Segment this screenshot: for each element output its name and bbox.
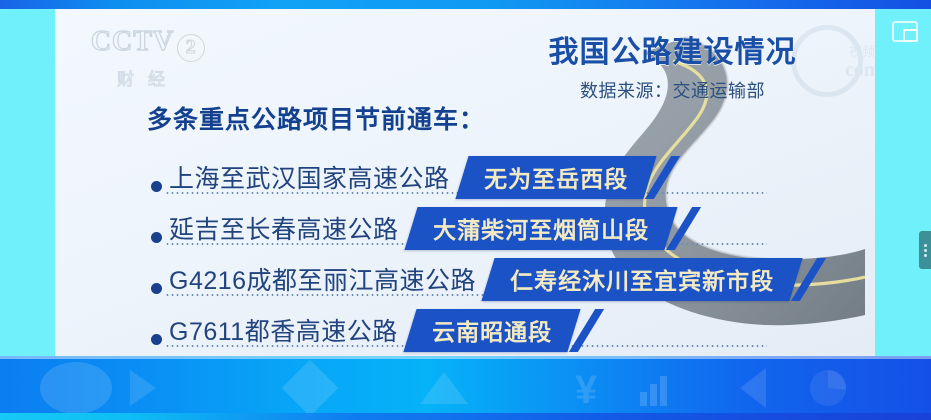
drag-handle-icon[interactable] xyxy=(919,231,931,269)
list-item: 上海至武汉国家高速公路 无为至岳西段 xyxy=(147,154,875,205)
section-tag: 云南昭通段 xyxy=(403,309,580,352)
highway-name: G4216成都至丽江高速公路 xyxy=(169,261,476,297)
highway-name: G7611都香高速公路 xyxy=(169,312,398,348)
data-source-subtitle: 数据来源：交通运输部 xyxy=(500,77,845,103)
cctv-channel-number: 2 xyxy=(177,34,205,62)
list-item: G4216成都至丽江高速公路 仁寿经沐川至宜宾新市段 xyxy=(147,256,875,307)
decor-triangle xyxy=(420,372,468,404)
right-video-rail xyxy=(875,9,931,356)
section-tag-label: 大蒲柴河至烟筒山段 xyxy=(433,211,649,245)
cctv-logo-text: CCTV xyxy=(91,26,174,57)
bar-bottom-accent xyxy=(0,413,931,420)
section-tag: 仁寿经沐川至宜宾新市段 xyxy=(481,258,802,301)
decor-diamond xyxy=(282,360,339,417)
highway-list: 上海至武汉国家高速公路 无为至岳西段 延吉至长春高速公路 大蒲柴河至烟筒山段 G… xyxy=(147,154,875,356)
broadcast-screen: CCTV2 财经 视频网 com 我国公路建设情况 xyxy=(0,0,931,420)
section-tag-label: 云南昭通段 xyxy=(432,313,552,347)
cctv-channel-name: 财经 xyxy=(63,65,233,90)
pie-chart-icon xyxy=(810,370,846,406)
bullet-icon xyxy=(151,283,162,294)
title-block: 我国公路建设情况 数据来源：交通运输部 xyxy=(500,27,845,103)
decor-triangle xyxy=(130,370,156,406)
slide-panel: CCTV2 财经 视频网 com 我国公路建设情况 xyxy=(55,9,875,356)
highway-name: 上海至武汉国家高速公路 xyxy=(169,159,450,195)
page-title: 我国公路建设情况 xyxy=(500,27,845,71)
section-headline: 多条重点公路项目节前通车： xyxy=(147,100,485,136)
bar-chart-icon xyxy=(640,374,674,406)
picture-in-picture-icon[interactable] xyxy=(892,21,918,42)
list-item: G7611都香高速公路 云南昭通段 xyxy=(147,307,875,356)
top-accent-strip xyxy=(0,0,931,9)
section-tag-label: 无为至岳西段 xyxy=(484,160,628,194)
bullet-icon xyxy=(151,181,162,192)
cctv-logo: CCTV2 财经 xyxy=(63,27,233,89)
bullet-icon xyxy=(151,232,162,243)
highway-name: 延吉至长春高速公路 xyxy=(169,210,399,246)
bottom-graphic-bar: ¥ xyxy=(0,356,931,420)
bar-top-hairline xyxy=(0,356,931,359)
yuan-currency-icon: ¥ xyxy=(575,368,597,413)
decor-triangle xyxy=(740,368,766,408)
decor-circle xyxy=(40,362,112,414)
section-tag: 无为至岳西段 xyxy=(455,156,656,199)
bullet-icon xyxy=(151,334,162,345)
cctv-logo-wordmark: CCTV2 xyxy=(63,27,233,62)
left-video-rail xyxy=(0,9,55,356)
section-tag-label: 仁寿经沐川至宜宾新市段 xyxy=(510,262,774,296)
section-tag: 大蒲柴河至烟筒山段 xyxy=(404,207,677,250)
list-item: 延吉至长春高速公路 大蒲柴河至烟筒山段 xyxy=(147,205,875,256)
